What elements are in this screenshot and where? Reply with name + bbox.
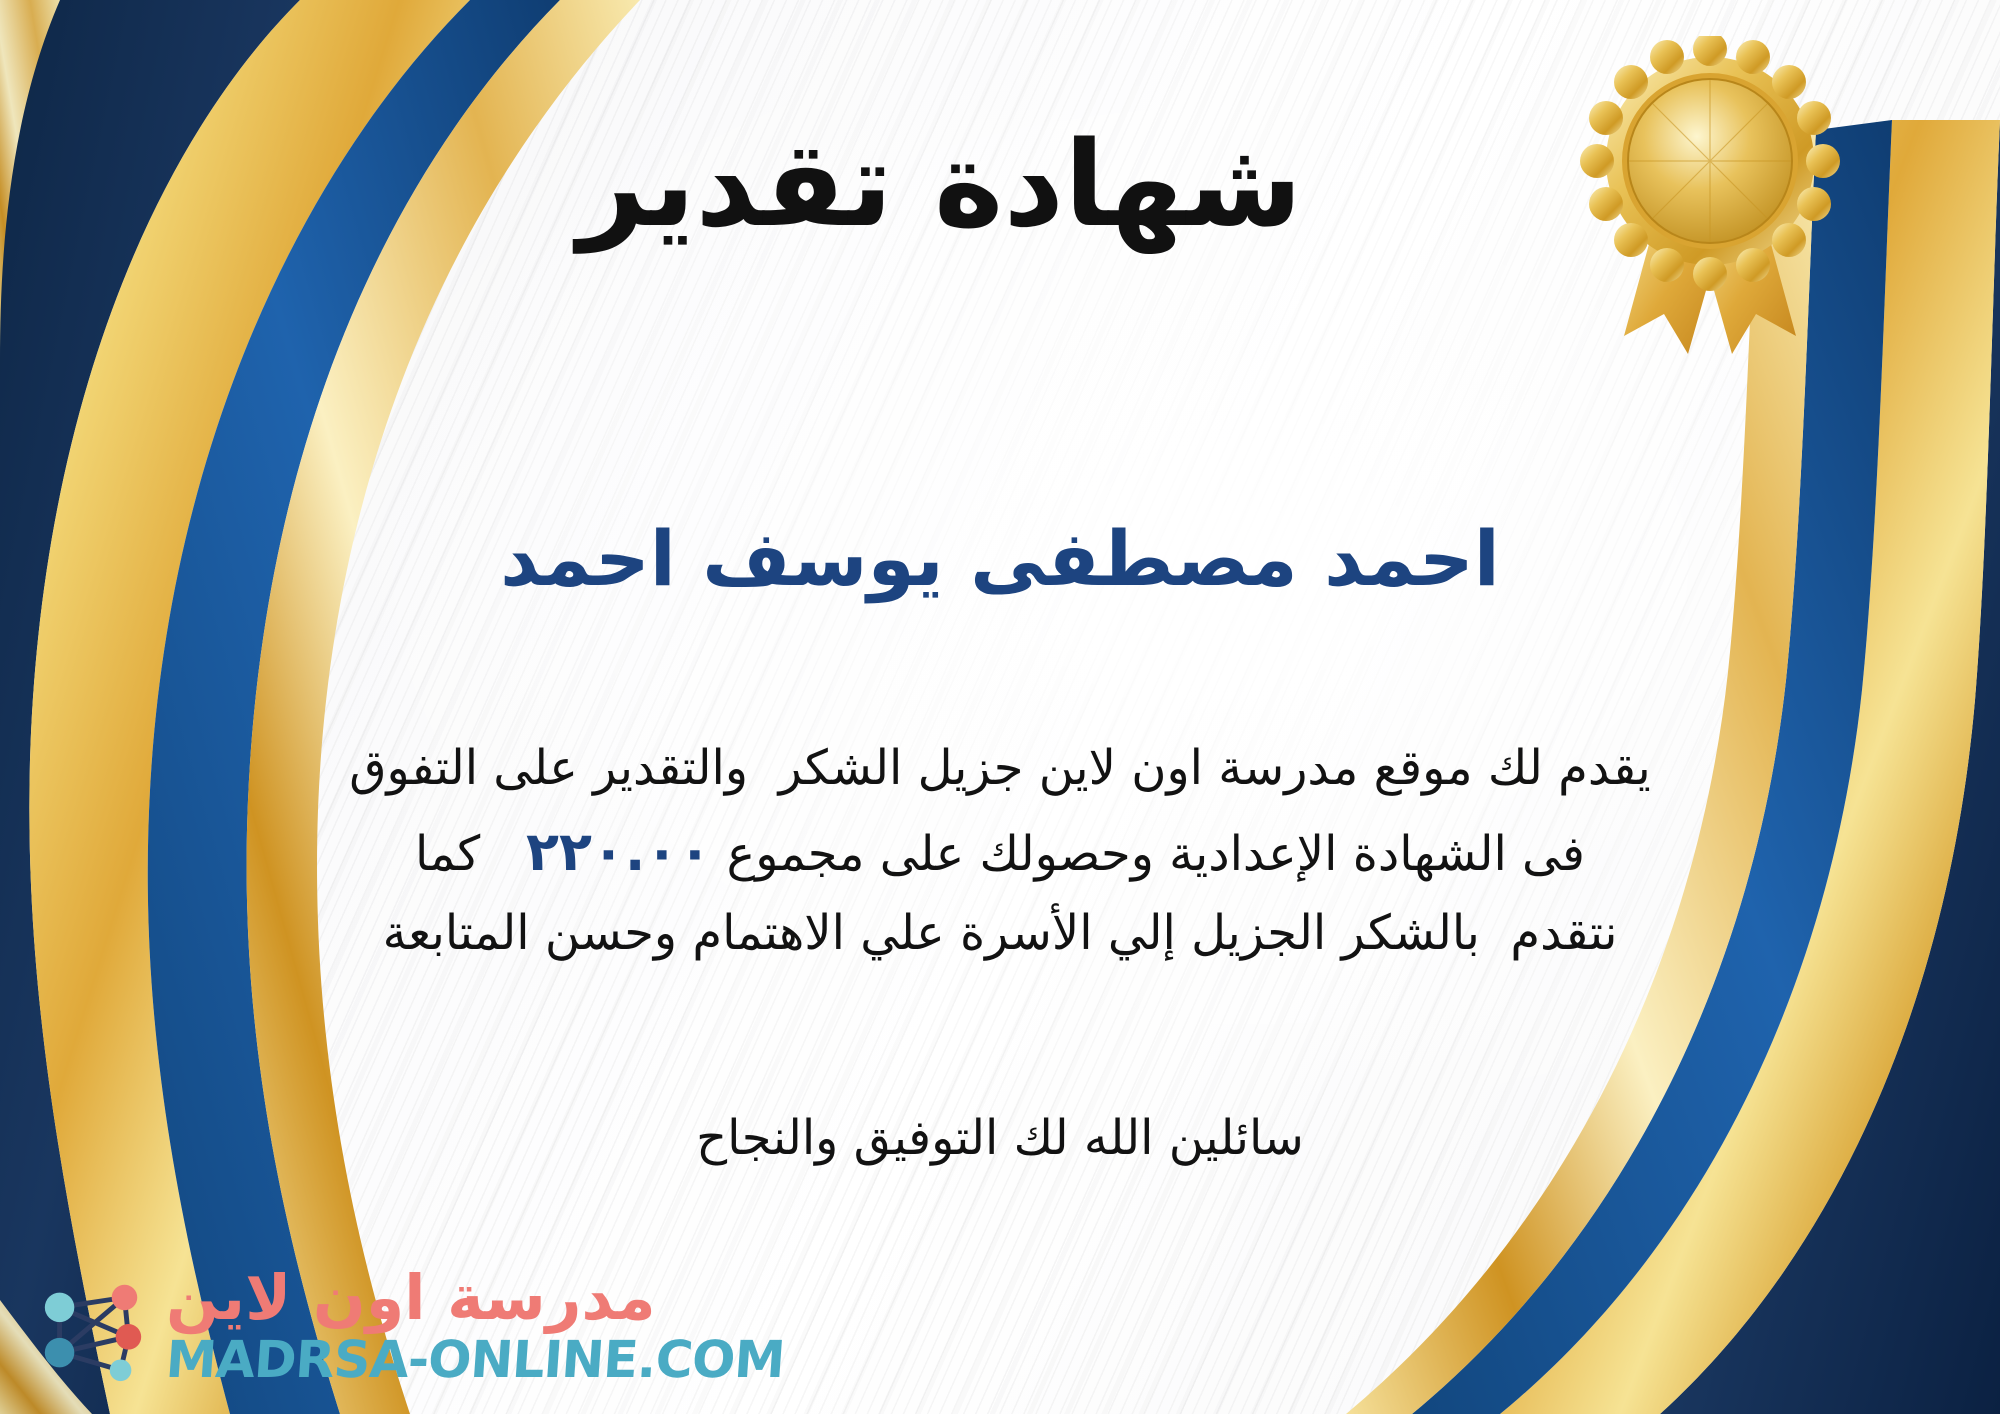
body-line-2: فى الشهادة الإعدادية وحصولك على مجموع ٢٢… xyxy=(60,808,1940,895)
brand-arabic-name: مدرسة اون لاين xyxy=(166,1267,656,1329)
brand-website-url[interactable]: MADRSA-ONLINE.COM xyxy=(164,1335,786,1386)
brand-text-block: مدرسة اون لاين MADRSA-ONLINE.COM xyxy=(166,1267,784,1386)
body-line-1: يقدم لك موقع مدرسة اون لاين جزيل الشكر و… xyxy=(60,730,1940,808)
certificate-content: شهادة تقدير احمد مصطفى يوسف احمد يقدم لك… xyxy=(0,0,2000,1414)
brand-logo[interactable]: مدرسة اون لاين MADRSA-ONLINE.COM xyxy=(34,1267,784,1386)
closing-wish: سائلين الله لك التوفيق والنجاح xyxy=(0,1110,2000,1166)
page-title: شهادة تقدير xyxy=(0,120,2000,250)
body-line-3: نتقدم بالشكر الجزيل إلي الأسرة علي الاهت… xyxy=(60,895,1940,973)
certificate-body: يقدم لك موقع مدرسة اون لاين جزيل الشكر و… xyxy=(60,730,1940,973)
recipient-name: احمد مصطفى يوسف احمد xyxy=(0,515,2000,602)
certificate-page: شهادة تقدير احمد مصطفى يوسف احمد يقدم لك… xyxy=(0,0,2000,1414)
total-score-value: ٢٢٠.٠٠ xyxy=(526,820,711,883)
body-line-2-prefix: فى الشهادة الإعدادية وحصولك على مجموع xyxy=(727,826,1585,882)
network-nodes-icon xyxy=(34,1268,152,1386)
body-line-2-suffix: كما xyxy=(415,826,480,882)
